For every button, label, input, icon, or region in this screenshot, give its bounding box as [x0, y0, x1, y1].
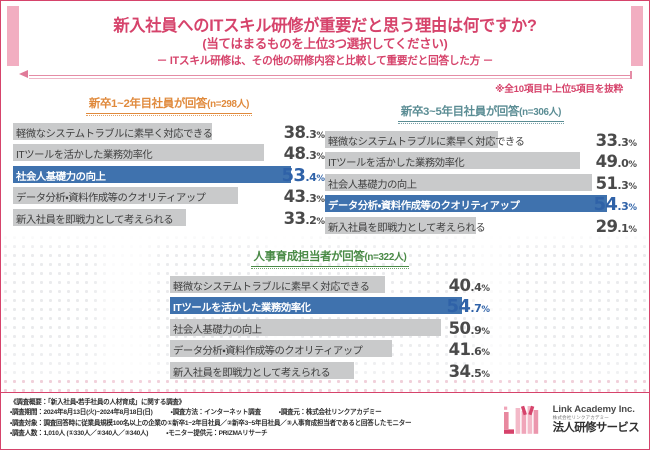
heading-underline — [251, 266, 410, 267]
left-arrow-icon — [19, 70, 28, 78]
bar-value: 50.9% — [443, 319, 490, 338]
bar-rows-hr: 軽微なシステムトラブルに素早く対応できる40.4%ITツールを活かした業務効率化… — [170, 276, 490, 381]
link-academy-logo-icon — [503, 404, 547, 436]
bar-value: 54.7% — [440, 296, 490, 317]
bar-label: 軽微なシステムトラブルに素早く対応できる — [13, 125, 212, 140]
divider-line-upper — [29, 75, 631, 76]
chart-heading-title: 新卒3~5年目社員が回答 — [401, 106, 519, 118]
logo-company-en: Link Academy Inc. — [553, 405, 639, 415]
bar-value: 43.3% — [278, 187, 325, 206]
bar-value: 33.3% — [590, 131, 637, 150]
bar-row: データ分析・資料作成等のクオリティアップ41.6% — [170, 340, 490, 359]
survey-summary-line: ・調査期間：2024年8月13日(火)~2024年8月18日(日)・調査方法：イ… — [10, 408, 501, 418]
bar-value: 41.6% — [443, 340, 490, 359]
bar-row: 軽微なシステムトラブルに素早く対応できる38.3% — [13, 123, 325, 142]
chart-heading-n: (n=306人) — [519, 107, 561, 118]
survey-summary-line: ・調査人数：1,010人 (①330人／②340人／③340人)・モニター提供元… — [10, 429, 501, 439]
bar-rows-mid: 軽微なシステムトラブルに素早く対応できる33.3%ITツールを活かした業務効率化… — [325, 131, 637, 236]
bar-value: 34.5% — [443, 362, 490, 381]
chart-heading-n: (n=298人) — [207, 99, 249, 110]
divider-line-lower — [29, 78, 631, 79]
bar-label: 新入社員を即戦力として考えられる — [325, 219, 485, 234]
bar-value: 53.4% — [275, 165, 325, 186]
bar-row: データ分析・資料作成等のクオリティアップ54.3% — [325, 195, 637, 214]
chart-heading-title: 人事育成担当者が回答 — [254, 251, 365, 263]
excerpt-note: ※全10項目中上位5項目を抜粋 — [495, 81, 623, 95]
bar-row: 新入社員を即戦力として考えられる33.2% — [13, 209, 325, 228]
header-divider — [19, 73, 631, 79]
bar-label: 社会人基礎力の向上 — [13, 168, 106, 183]
bar-row: 新入社員を即戦力として考えられる29.1% — [325, 217, 637, 236]
heading-dotted-underline — [86, 115, 252, 116]
bar-value: 33.2% — [278, 209, 325, 228]
page-title: 新入社員へのITスキル研修が重要だと思う理由は何ですか? — [1, 12, 649, 36]
bar-value: 48.3% — [278, 144, 325, 163]
bar-row: ITツールを活かした業務効率化49.0% — [325, 152, 637, 171]
bar-label: データ分析・資料作成等のクオリティアップ — [325, 197, 520, 212]
bar-value: 51.3% — [590, 174, 637, 193]
chart-heading-mid: 新卒3~5年目社員が回答(n=306人) — [325, 103, 637, 126]
survey-summary: 《調査概要：「新入社員・若手社員の人材育成」に関する調査》・調査期間：2024年… — [10, 398, 501, 440]
heading-underline — [86, 113, 252, 114]
bar-row: データ分析・資料作成等のクオリティアップ43.3% — [13, 187, 325, 206]
bar-value: 29.1% — [590, 217, 637, 236]
heading-dotted-underline — [251, 268, 410, 269]
bar-label: ITツールを活かした業務効率化 — [325, 154, 464, 169]
bar-label: ITツールを活かした業務効率化 — [13, 146, 152, 161]
brand-logo: Link Academy Inc. 株式会社リンクアカデミー 法人研修サービス — [503, 400, 639, 440]
page-subtitle: (当てはまるものを上位3つ選択してください) — [1, 34, 649, 52]
bar-label: 新入社員を即戦力として考えられる — [170, 364, 330, 379]
chart-panel-junior: 新卒1~2年目社員が回答(n=298人) 軽微なシステムトラブルに素早く対応でき… — [13, 95, 325, 230]
chart-heading-hr: 人事育成担当者が回答(n=322人) — [170, 248, 490, 271]
infographic-poster: 新入社員へのITスキル研修が重要だと思う理由は何ですか? (当てはまるものを上位… — [0, 0, 650, 450]
heading-dotted-underline — [398, 123, 564, 124]
bar-value: 40.4% — [443, 276, 490, 295]
survey-summary-line: 《調査概要：「新入社員・若手社員の人材育成」に関する調査》 — [10, 398, 501, 408]
bar-row: 軽微なシステムトラブルに素早く対応できる40.4% — [170, 276, 490, 295]
bar-value: 49.0% — [590, 152, 637, 171]
bar-rows-junior: 軽微なシステムトラブルに素早く対応できる38.3%ITツールを活かした業務効率化… — [13, 123, 325, 228]
bar-row: 社会人基礎力の向上51.3% — [325, 174, 637, 193]
bar-label: 軽微なシステムトラブルに素早く対応できる — [170, 278, 369, 293]
chart-heading-n: (n=322人) — [364, 252, 406, 263]
chart-panel-mid: 新卒3~5年目社員が回答(n=306人) 軽微なシステムトラブルに素早く対応でき… — [325, 103, 637, 238]
logo-service-jp: 法人研修サービス — [553, 423, 639, 434]
chart-heading-junior: 新卒1~2年目社員が回答(n=298人) — [13, 95, 325, 118]
survey-summary-line: ・調査対象：調査回答時に従業員規模100名以上の企業の①新卒1~2年目社員／②新… — [10, 419, 501, 429]
divider-end-cap — [630, 71, 632, 79]
bar-row: 社会人基礎力の向上50.9% — [170, 319, 490, 338]
chart-panel-hr: 人事育成担当者が回答(n=322人) 軽微なシステムトラブルに素早く対応できる4… — [170, 248, 490, 383]
logo-company-jp-small: 株式会社リンクアカデミー — [553, 416, 639, 421]
bar-row: ITツールを活かした業務効率化54.7% — [170, 297, 490, 316]
poster-footer: 《調査概要：「新入社員・若手社員の人材育成」に関する調査》・調査期間：2024年… — [1, 392, 649, 449]
page-note: － ITスキル研修は、その他の研修内容と比較して重要だと回答した方 － — [1, 53, 649, 68]
logo-text-block: Link Academy Inc. 株式会社リンクアカデミー 法人研修サービス — [553, 405, 639, 435]
bar-label: 軽微なシステムトラブルに素早く対応できる — [325, 133, 524, 148]
heading-underline — [398, 121, 564, 122]
bar-label: 社会人基礎力の向上 — [325, 176, 417, 191]
bar-row: 軽微なシステムトラブルに素早く対応できる33.3% — [325, 131, 637, 150]
bar-label: データ分析・資料作成等のクオリティアップ — [13, 189, 206, 204]
chart-heading-title: 新卒1~2年目社員が回答 — [89, 98, 207, 110]
bar-row: 新入社員を即戦力として考えられる34.5% — [170, 362, 490, 381]
bar-value: 54.3% — [587, 194, 637, 215]
bar-label: 社会人基礎力の向上 — [170, 321, 262, 336]
bar-value: 38.3% — [278, 123, 325, 142]
bar-row: 社会人基礎力の向上53.4% — [13, 166, 325, 185]
bar-label: データ分析・資料作成等のクオリティアップ — [170, 342, 363, 357]
poster-header: 新入社員へのITスキル研修が重要だと思う理由は何ですか? (当てはまるものを上位… — [1, 1, 649, 93]
bar-label: ITツールを活かした業務効率化 — [170, 299, 311, 314]
bar-row: ITツールを活かした業務効率化48.3% — [13, 144, 325, 163]
bar-label: 新入社員を即戦力として考えられる — [13, 211, 173, 226]
